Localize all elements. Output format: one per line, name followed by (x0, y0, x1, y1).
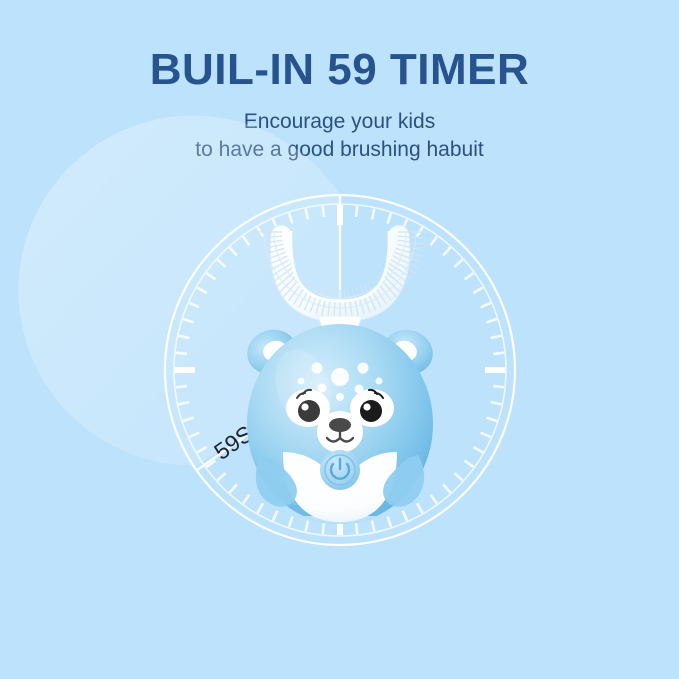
dial-minor-tick (417, 503, 423, 513)
dial-minor-tick (465, 273, 474, 279)
power-button[interactable] (320, 450, 360, 490)
dial-minor-tick (473, 288, 483, 294)
product-feature-poster: BUIL-IN 59 TIMER Encourage your kids to … (0, 0, 679, 679)
product-illustration-stage: 59S (0, 0, 679, 679)
eye-right-highlight (363, 403, 370, 410)
dial-minor-tick (493, 386, 504, 387)
dial-minor-tick (273, 511, 277, 521)
dial-minor-tick (491, 336, 502, 338)
dial-minor-tick (486, 319, 496, 322)
dial-minor-tick (388, 213, 391, 223)
dial-minor-tick (443, 484, 450, 492)
dial-minor-tick (454, 260, 462, 267)
dial-minor-tick (491, 402, 502, 404)
dial-minor-tick (403, 511, 407, 521)
dial-minor-tick (323, 206, 324, 217)
dial-minor-tick (388, 516, 391, 526)
eye-right (360, 400, 382, 422)
dial-minor-tick (176, 386, 187, 387)
dial-minor-tick (486, 418, 496, 421)
dial-minor-tick (481, 433, 491, 437)
dial-minor-tick (454, 473, 462, 480)
dial-minor-tick (356, 206, 357, 217)
dial-minor-tick (258, 503, 264, 513)
dial-minor-tick (493, 353, 504, 354)
dial-minor-tick (289, 516, 292, 526)
dial-minor-tick (356, 523, 357, 534)
dial-minor-tick (306, 521, 308, 532)
dial-minor-tick (481, 303, 491, 307)
dial-minor-tick (473, 447, 483, 453)
dial-minor-tick (443, 247, 450, 255)
dial-minor-tick (243, 495, 249, 504)
dial-minor-tick (323, 523, 324, 534)
dial-minor-tick (372, 521, 374, 532)
dial-minor-tick (230, 484, 237, 492)
dial-minor-tick (176, 353, 187, 354)
dial-minor-tick (465, 461, 474, 467)
nose (329, 418, 351, 432)
dial-minor-tick (431, 495, 437, 504)
dial-minor-tick (372, 209, 374, 220)
dial-minor-tick (431, 237, 437, 246)
dial-minor-tick (217, 473, 225, 480)
